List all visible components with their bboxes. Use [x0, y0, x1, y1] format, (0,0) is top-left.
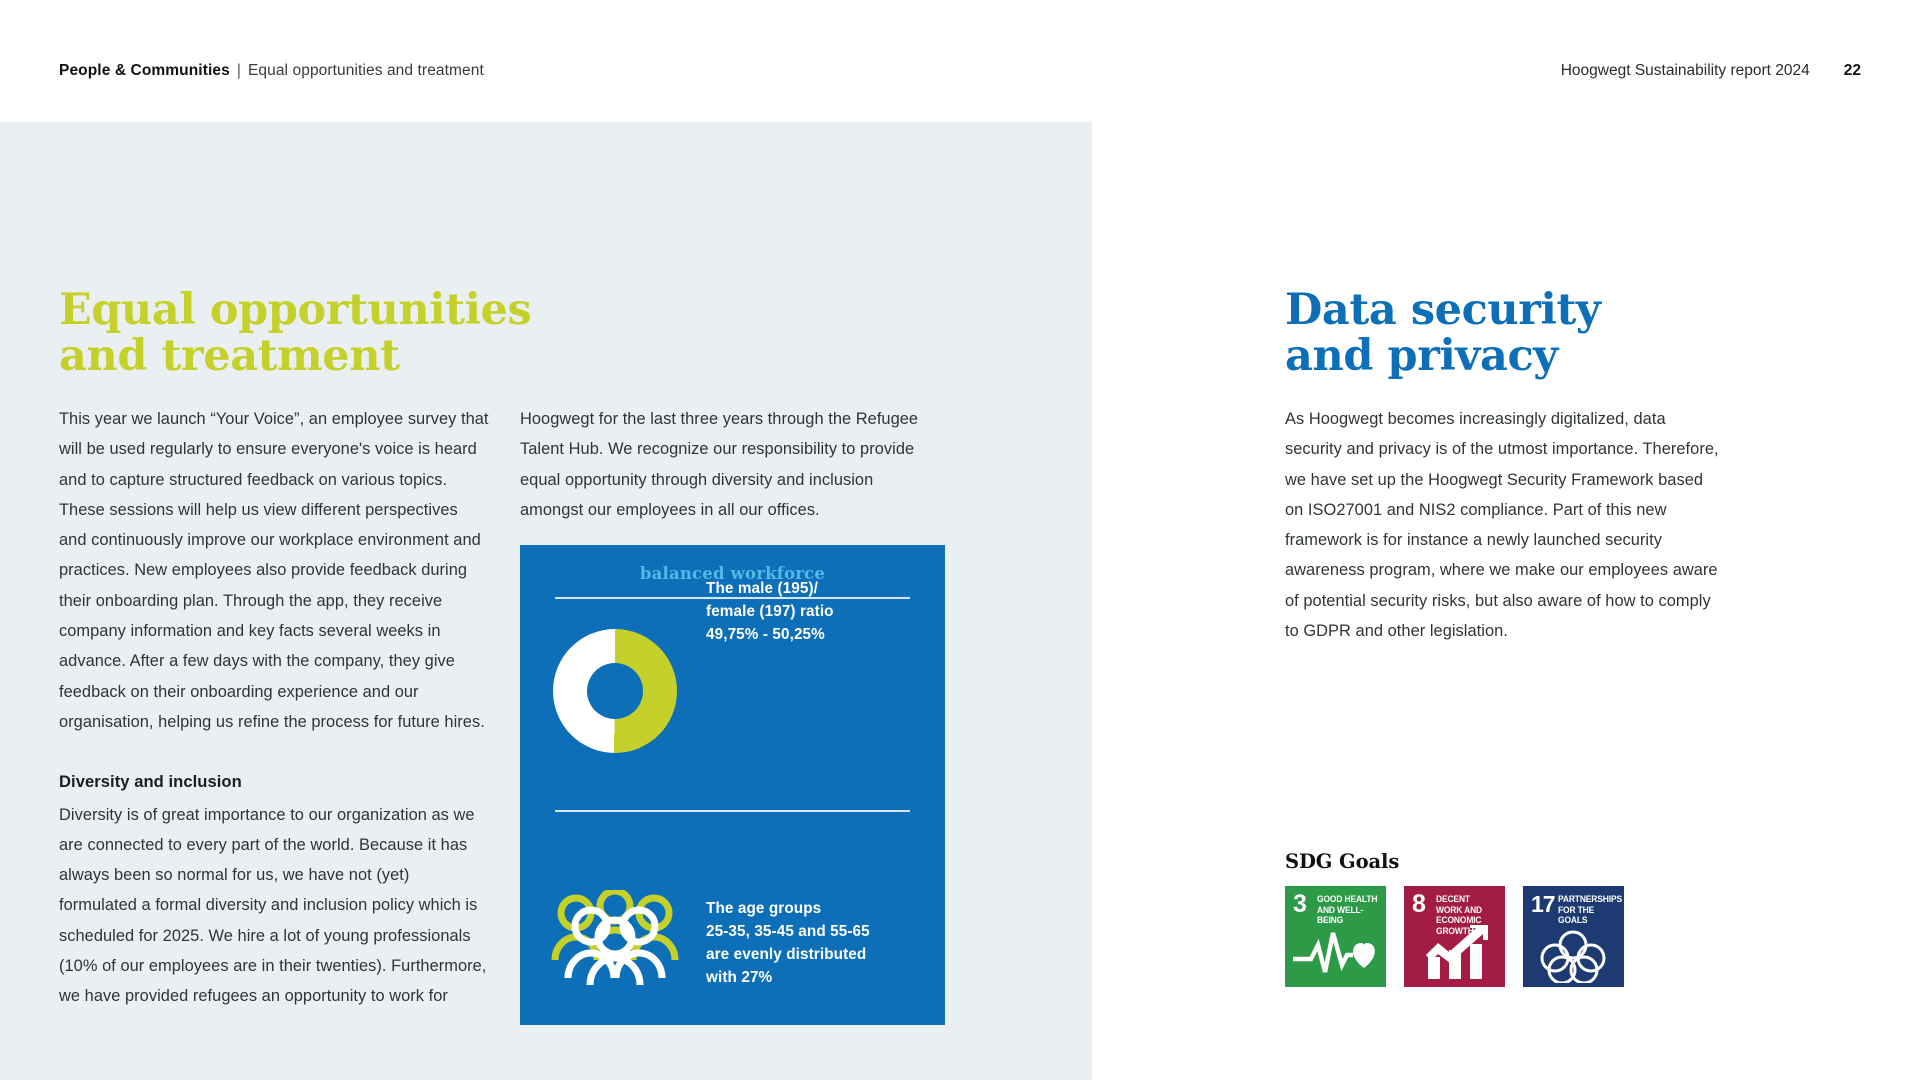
- gender-label-line-1: The male (195)/: [706, 577, 921, 600]
- right-column-paragraph: As Hoogwegt becomes increasingly digital…: [1285, 410, 1719, 640]
- age-groups-label: The age groups 25-35, 35-45 and 55-65 ar…: [706, 897, 921, 989]
- sdg-3-title-line-1: GOOD HEALTH: [1317, 894, 1377, 904]
- age-label-line-1: The age groups: [706, 897, 921, 920]
- breadcrumb-section: People & Communities: [59, 62, 230, 79]
- sdg-17-title-line-2: FOR THE GOALS: [1558, 905, 1594, 926]
- gender-ratio-block: [520, 621, 945, 791]
- sdg-17-number: 17: [1531, 892, 1555, 917]
- left-title-line-2: and treatment: [59, 333, 579, 379]
- sdg-tile-8[interactable]: 8 DECENT WORK AND ECONOMIC GROWTH: [1404, 886, 1505, 987]
- header-meta: Hoogwegt Sustainability report 202422: [1561, 62, 1861, 80]
- people-group-icon: [545, 890, 685, 985]
- breadcrumb-separator: |: [230, 62, 248, 79]
- page-number: 22: [1844, 62, 1861, 79]
- sdg-tile-3[interactable]: 3 GOOD HEALTH AND WELL-BEING: [1285, 886, 1386, 987]
- infographic-divider-middle: [555, 810, 910, 812]
- left-column-a-paragraph-1: This year we launch “Your Voice”, an emp…: [59, 410, 489, 731]
- sdg-3-title-line-2: AND WELL-BEING: [1317, 905, 1363, 926]
- gender-donut-chart: [553, 629, 677, 753]
- growth-chart-arrow-icon: [1404, 925, 1505, 983]
- left-title-line-1: Equal opportunities: [59, 287, 579, 333]
- sdg-goals-heading: SDG Goals: [1285, 850, 1399, 873]
- breadcrumb-subsection: Equal opportunities and treatment: [248, 62, 484, 79]
- left-column-b-paragraph: Hoogwegt for the last three years throug…: [520, 410, 918, 519]
- gender-ratio-label: The male (195)/ female (197) ratio 49,75…: [706, 577, 921, 646]
- balanced-workforce-infographic: balanced workforce The male (195)/ femal…: [520, 545, 945, 1025]
- document-title: Hoogwegt Sustainability report 2024: [1561, 62, 1810, 79]
- left-column-b: Hoogwegt for the last three years throug…: [520, 404, 930, 525]
- right-column: As Hoogwegt becomes increasingly digital…: [1285, 404, 1720, 646]
- sdg-8-number: 8: [1412, 892, 1426, 917]
- age-label-line-2: 25-35, 35-45 and 55-65: [706, 920, 921, 943]
- left-page-title: Equal opportunities and treatment: [59, 287, 579, 380]
- right-title-line-1: Data security: [1285, 287, 1715, 333]
- age-label-line-3: are evenly distributed: [706, 943, 921, 966]
- right-title-line-2: and privacy: [1285, 333, 1715, 379]
- report-page: People & Communities|Equal opportunities…: [0, 0, 1920, 1080]
- right-page-title: Data security and privacy: [1285, 287, 1715, 380]
- left-column-a-paragraph-2: Diversity is of great importance to our …: [59, 806, 486, 1006]
- age-label-line-4: with 27%: [706, 966, 921, 989]
- sdg-tile-17[interactable]: 17 PARTNERSHIPS FOR THE GOALS: [1523, 886, 1624, 987]
- left-column-a: This year we launch “Your Voice”, an emp…: [59, 404, 489, 1012]
- paragraph-spacer: [59, 737, 489, 767]
- sdg-3-title: GOOD HEALTH AND WELL-BEING: [1317, 894, 1378, 926]
- sdg-3-number: 3: [1293, 892, 1307, 917]
- gender-label-line-3: 49,75% - 50,25%: [706, 623, 921, 646]
- interlocking-circles-icon: [1523, 925, 1624, 983]
- sdg-17-title-line-1: PARTNERSHIPS: [1558, 894, 1622, 904]
- gender-label-line-2: female (197) ratio: [706, 600, 921, 623]
- diversity-subheading: Diversity and inclusion: [59, 767, 489, 797]
- heartbeat-heart-icon: [1285, 925, 1386, 983]
- breadcrumb: People & Communities|Equal opportunities…: [59, 62, 484, 80]
- sdg-goals-row: 3 GOOD HEALTH AND WELL-BEING 8 DECENT WO…: [1285, 886, 1624, 987]
- running-header: People & Communities|Equal opportunities…: [0, 62, 1920, 86]
- sdg-8-title-line-1: DECENT WORK AND: [1436, 894, 1482, 915]
- sdg-17-title: PARTNERSHIPS FOR THE GOALS: [1558, 894, 1618, 926]
